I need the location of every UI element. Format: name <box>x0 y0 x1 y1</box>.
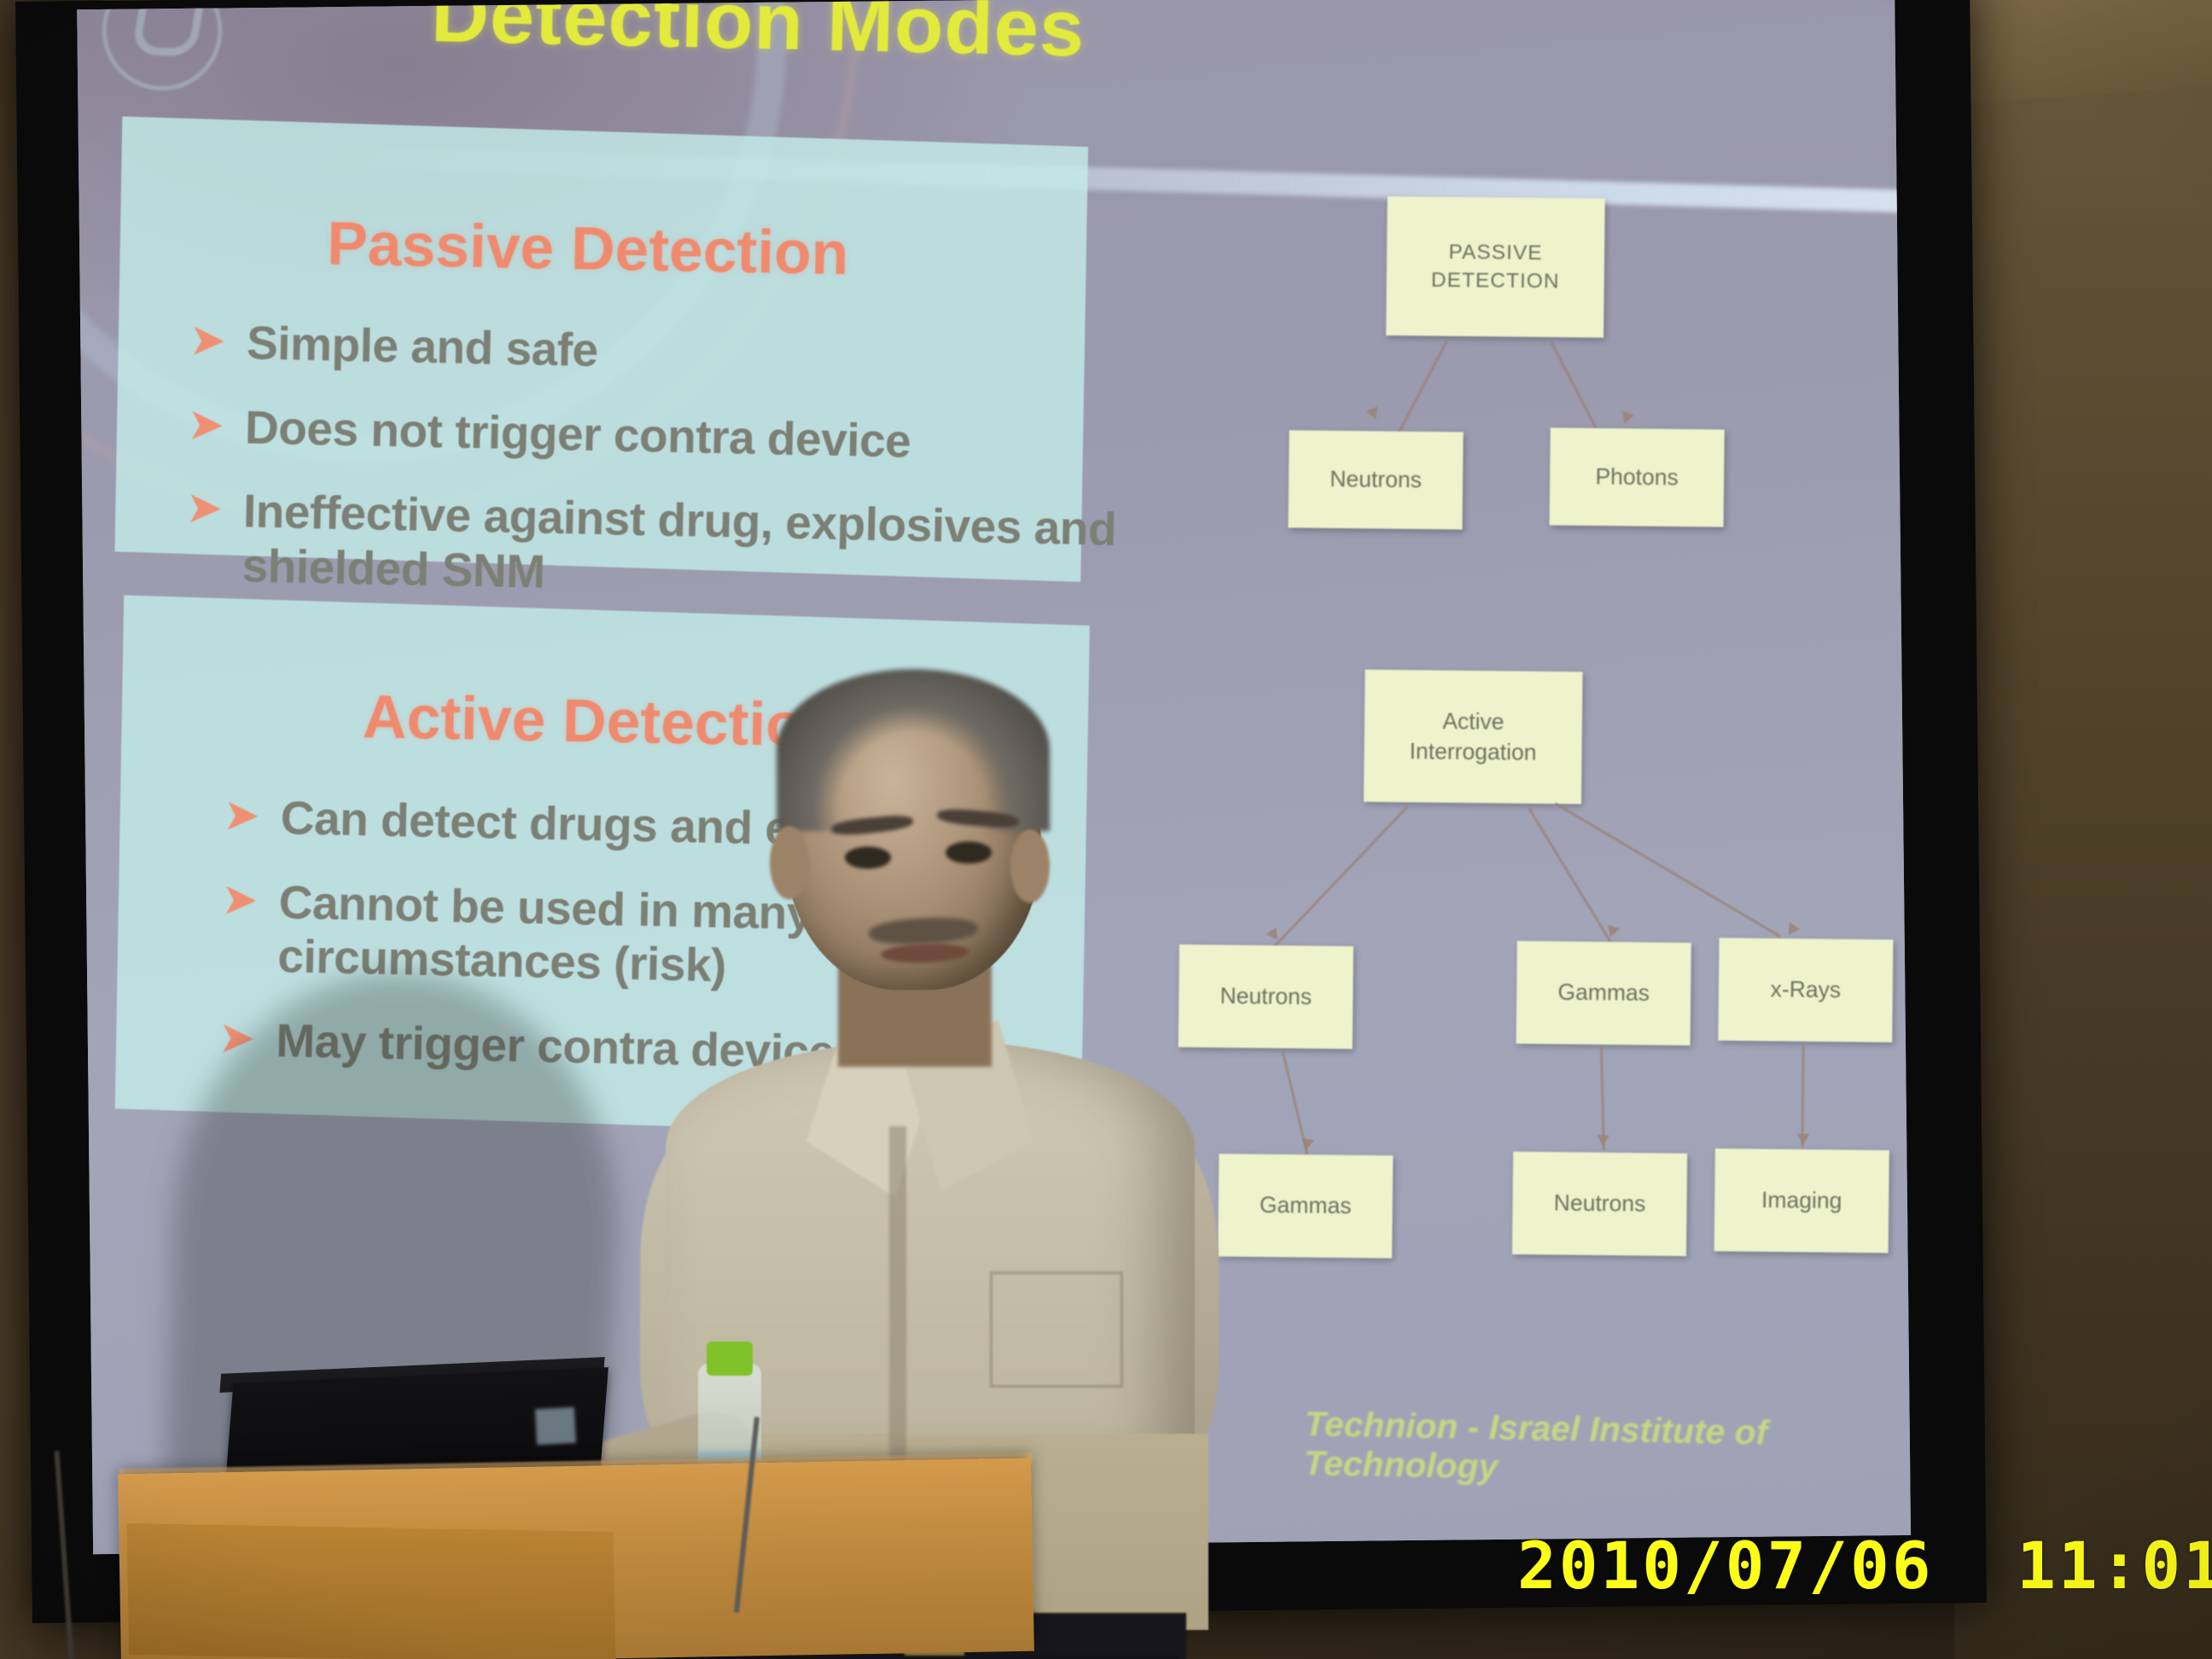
room-wall-right <box>1954 0 2212 1659</box>
flow-node-passive-detection: PASSIVE DETECTION <box>1386 196 1605 338</box>
bullet-arrow-icon: ➤ <box>223 874 257 924</box>
bullet-arrow-icon: ➤ <box>224 790 259 841</box>
flow-node-label-line1: PASSIVE <box>1448 238 1542 267</box>
flow-node-photons-passive: Photons <box>1550 428 1725 527</box>
bullet-arrow-icon: ➤ <box>187 483 221 533</box>
flow-node-active-interrogation: Active Interrogation <box>1364 670 1583 805</box>
passive-detection-bullet-list: ➤ Simple and safe ➤ Does not trigger con… <box>185 315 1132 642</box>
flow-arrow-passive-neutrons <box>1366 406 1382 422</box>
presenter-ear-right <box>1010 829 1050 903</box>
podium-front-panel <box>127 1523 616 1659</box>
flow-arrow-active-xrays <box>1784 923 1800 939</box>
bullet-text: Ineffective against drug, explosives and… <box>242 484 1128 611</box>
flow-node-label-line2: Interrogation <box>1409 736 1536 768</box>
flow-node-neutrons-passive: Neutrons <box>1288 430 1463 529</box>
bullet-text: Does not trigger contra device <box>244 400 1129 474</box>
detection-flowchart: PASSIVE DETECTION Neutrons Photons Activ… <box>1174 163 1901 1406</box>
flow-edge-active-xrays <box>1555 802 1781 937</box>
presenter-shirt-pocket <box>990 1272 1123 1388</box>
photograph-of-lecture: Detection Modes Passive Detection ➤ Simp… <box>0 0 2212 1659</box>
list-item: ➤ Ineffective against drug, explosives a… <box>186 483 1128 612</box>
flow-arrow-gammas-neutrons <box>1597 1135 1610 1147</box>
presenter-ear-left <box>770 826 809 899</box>
list-item: ➤ Does not trigger contra device <box>189 399 1130 474</box>
presenter-shirt-placket <box>889 1126 906 1485</box>
flow-node-neutrons-result: Neutrons <box>1512 1151 1687 1255</box>
presenter-eye-left <box>845 847 891 869</box>
flow-node-gammas-active: Gammas <box>1516 941 1691 1045</box>
slide-footer-credit: Technion - Israel Institute of Technolog… <box>1303 1406 1911 1496</box>
flow-node-label-line2: DETECTION <box>1431 266 1560 296</box>
flow-node-imaging-result: Imaging <box>1714 1149 1889 1253</box>
bullet-arrow-icon: ➤ <box>190 315 224 365</box>
laptop-screen-glint <box>535 1407 576 1445</box>
water-bottle-cap <box>707 1342 753 1376</box>
camera-timestamp: 2010/07/06 11:01 <box>1517 1528 2212 1604</box>
passive-detection-heading: Passive Detection <box>327 208 850 288</box>
flow-arrow-passive-photons <box>1619 411 1634 426</box>
flow-arrow-neutrons-gammas <box>1300 1138 1313 1151</box>
bullet-arrow-icon: ➤ <box>189 399 223 450</box>
presenter-hair <box>777 669 1050 831</box>
flow-edge-active-neutrons <box>1268 806 1408 953</box>
flow-node-xrays-active: x-Rays <box>1718 938 1893 1042</box>
flow-arrow-xrays-imaging <box>1797 1133 1809 1144</box>
flow-edge-xrays-imaging <box>1801 1045 1804 1147</box>
flow-node-label-line1: Active <box>1442 706 1505 737</box>
presenter-eye-right <box>946 841 992 864</box>
